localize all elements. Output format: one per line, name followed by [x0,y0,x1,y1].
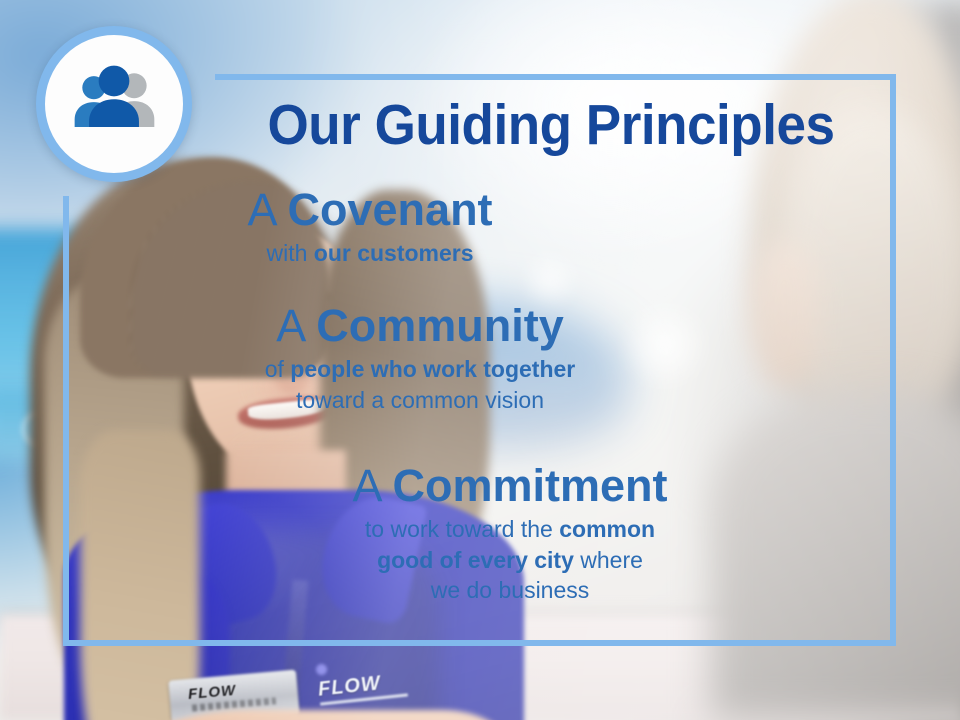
page-title: Our Guiding Principles [239,96,864,154]
regular-text: with [266,240,313,266]
emphasis-text: our customers [314,240,474,266]
regular-text: of [265,356,291,382]
principle-commitment: A Commitment to work toward the commongo… [160,462,860,605]
emphasis-text: common [559,516,655,542]
principle-body-line: to work toward the common [160,514,860,544]
principle-title: A Commitment [160,462,860,509]
principle-body-line: toward a common vision [90,385,750,415]
principle-body: to work toward the commongood of every c… [160,514,860,605]
regular-text: to work toward the [365,516,559,542]
principle-body: with our customers [40,238,700,268]
text-content: Our Guiding Principles A Covenant with o… [0,0,960,720]
principle-article: A [276,300,304,351]
principle-article: A [352,460,380,511]
principle-keyword: Community [316,300,564,351]
emphasis-text: people who work together [290,356,575,382]
regular-text: where [574,547,643,573]
principle-title: A Community [90,302,750,349]
principle-community: A Community of people who work togethert… [90,302,750,415]
principle-keyword: Commitment [393,460,668,511]
guiding-principles-graphic: FLOW FLOW Our Guidin [0,0,960,720]
principle-body-line: of people who work together [90,354,750,384]
principle-body-line: we do business [160,575,860,605]
emphasis-text: good of every city [377,547,574,573]
principle-body-line: good of every city where [160,545,860,575]
principle-title: A Covenant [40,186,700,233]
regular-text: toward a common vision [296,387,544,413]
principle-keyword: Covenant [288,184,493,235]
principle-covenant: A Covenant with our customers [40,186,700,269]
regular-text: we do business [431,577,590,603]
principle-article: A [247,184,275,235]
principle-body-line: with our customers [40,238,700,268]
principle-body: of people who work togethertoward a comm… [90,354,750,415]
